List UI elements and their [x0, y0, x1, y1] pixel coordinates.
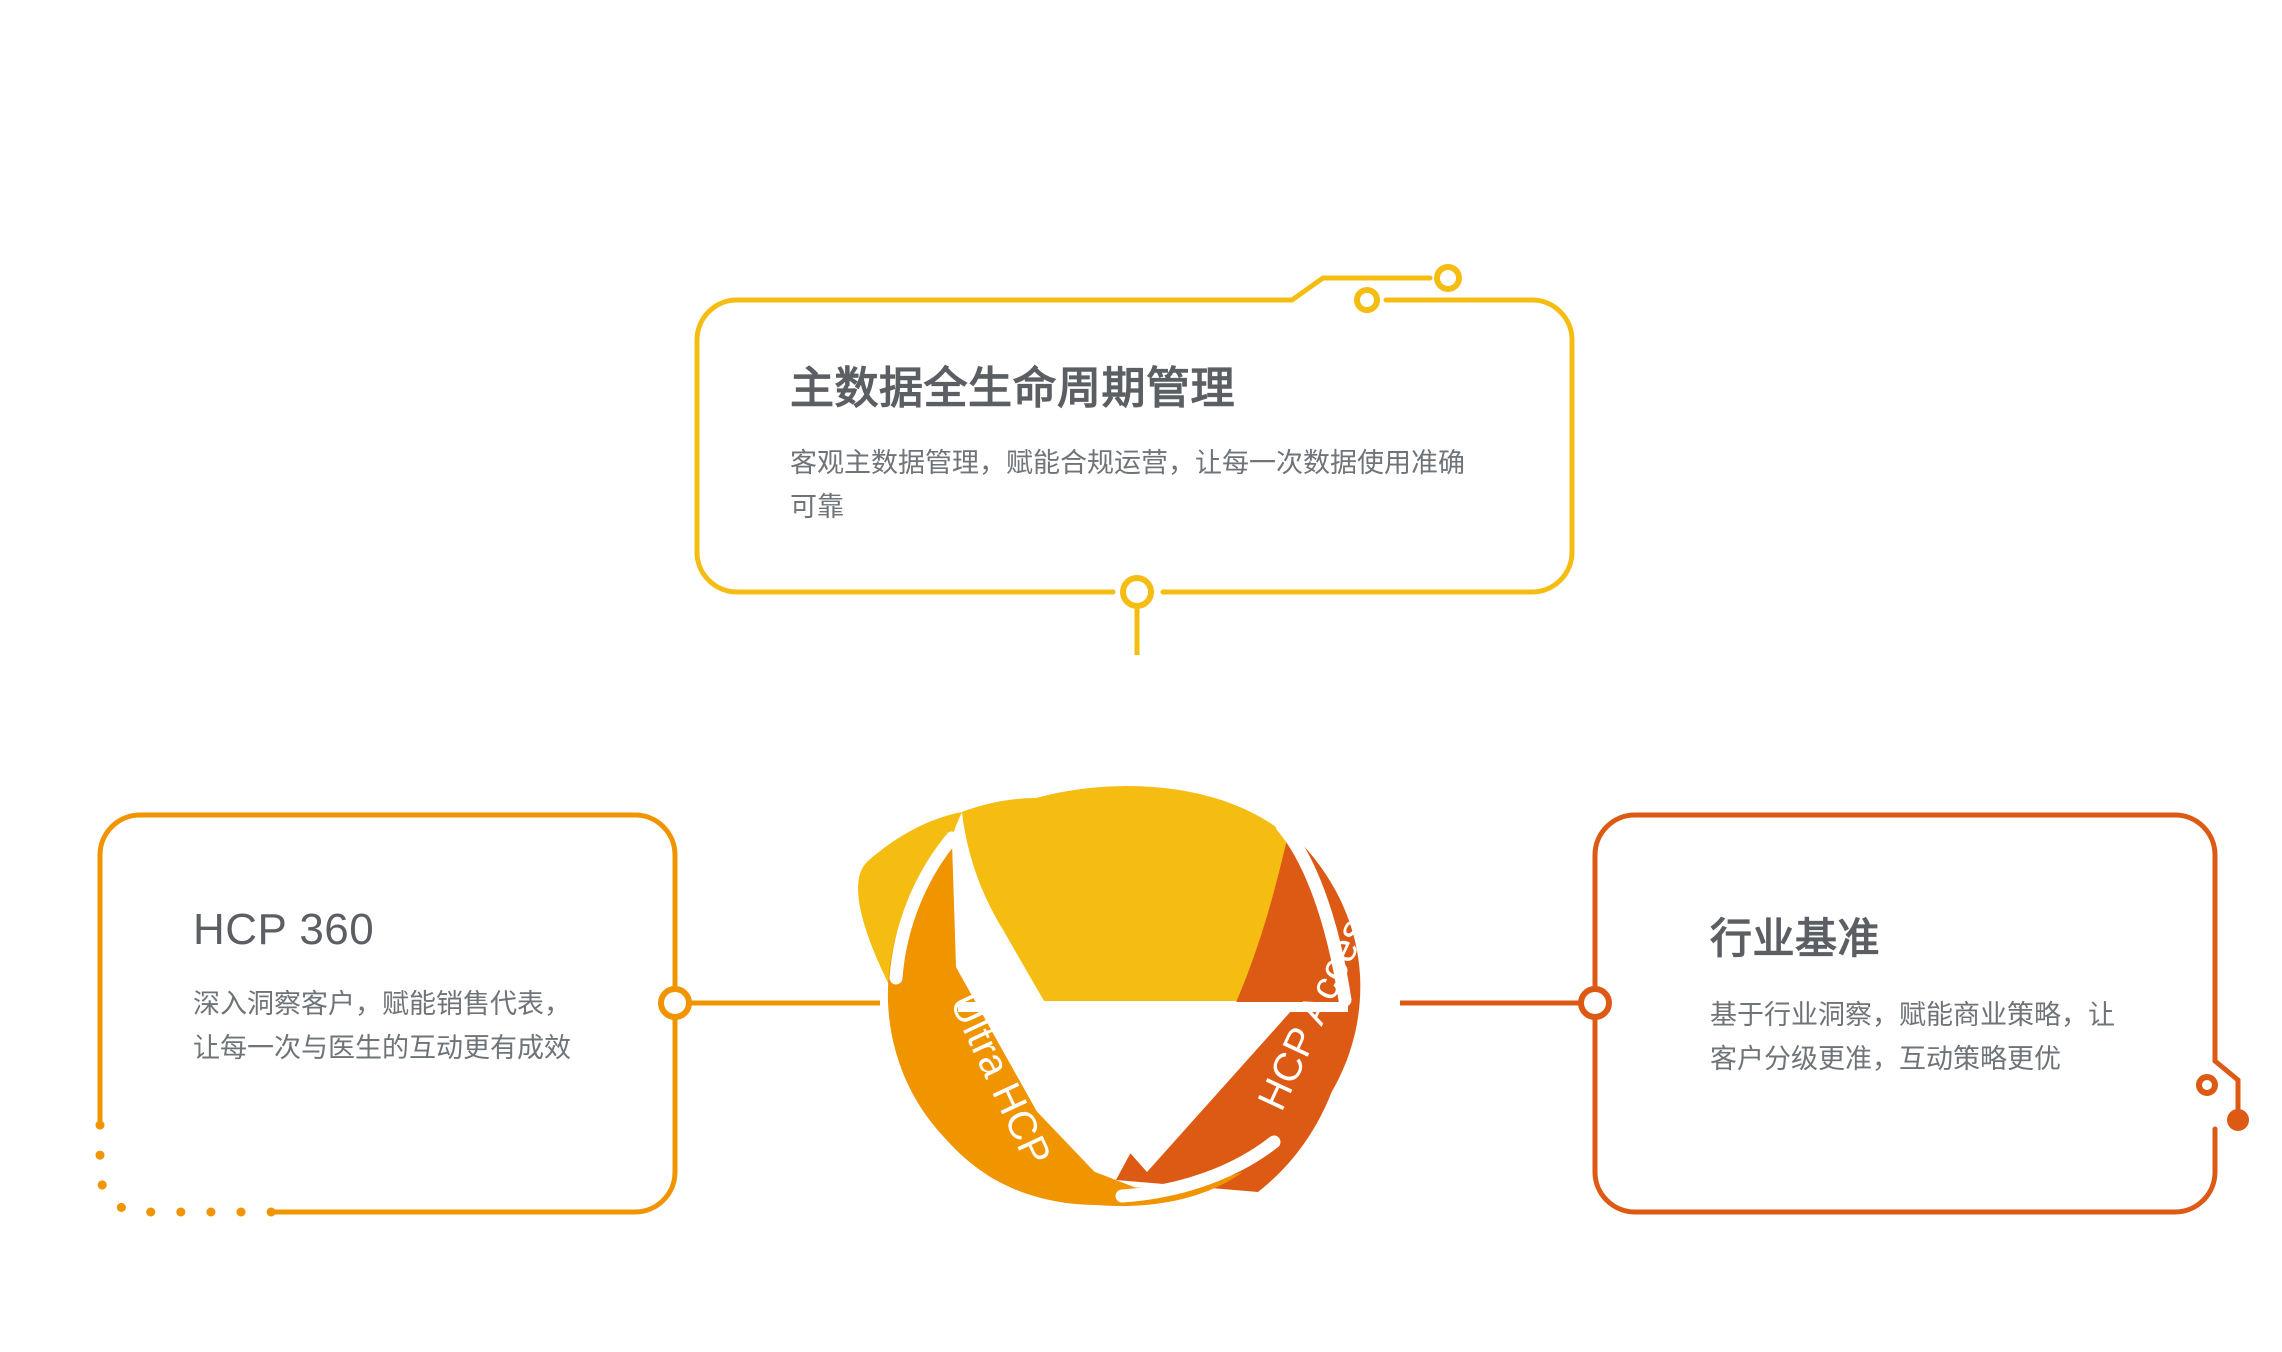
connector-node-right-outer	[2229, 1111, 2247, 1129]
diagram-graphics-layer	[0, 0, 2282, 1352]
card-industry-benchmark[interactable]: 行业基准 基于行业洞察，赋能商业策略，让客户分级更准，互动策略更优	[1710, 905, 2160, 1081]
connector-right-to-logo	[1400, 989, 1609, 1017]
connector-node-right-inner	[2199, 1077, 2215, 1093]
logo-blade-opendata	[962, 786, 1347, 1001]
card-top-title: 主数据全生命周期管理	[790, 352, 1510, 416]
card-hcp-360[interactable]: HCP 360 深入洞察客户，赋能销售代表，让每一次与医生的互动更有成效	[193, 905, 623, 1070]
logo-label-ultrahcp: Ultra HCP	[941, 987, 1060, 1173]
card-right-title: 行业基准	[1710, 905, 2160, 966]
connector-node-top-lower	[1357, 290, 1377, 310]
card-left-dotted-corner	[100, 1125, 272, 1212]
connector-node-left	[661, 989, 689, 1017]
connector-node-top-stem	[1123, 578, 1151, 606]
card-left-title: HCP 360	[193, 905, 623, 955]
logo-blade-ultrahcp	[888, 842, 1243, 1206]
card-left-body: 深入洞察客户，赋能销售代表，让每一次与医生的互动更有成效	[193, 983, 593, 1070]
card-top-body: 客观主数据管理，赋能合规运营，让每一次数据使用准确可靠	[790, 442, 1490, 529]
logo-label-hcpaccess: HCP Access	[1250, 893, 1387, 1117]
card-right-body: 基于行业洞察，赋能商业策略，让客户分级更准，互动策略更优	[1710, 994, 2130, 1081]
connector-node-top-upper	[1437, 267, 1459, 289]
logo-separator-3	[1122, 1142, 1274, 1196]
diagram-canvas: OpenData Ultra HCP HCP Access 主数据全生命周期管理…	[0, 0, 2282, 1352]
connector-left-to-logo	[661, 989, 880, 1017]
recycle-pinwheel-logo	[858, 786, 1360, 1206]
connector-node-right	[1581, 989, 1609, 1017]
logo-label-opendata: OpenData	[902, 678, 1088, 723]
logo-separator-2	[896, 838, 952, 978]
card-master-data-lifecycle[interactable]: 主数据全生命周期管理 客观主数据管理，赋能合规运营，让每一次数据使用准确可靠	[790, 352, 1510, 529]
connector-top-to-logo	[1123, 578, 1151, 655]
